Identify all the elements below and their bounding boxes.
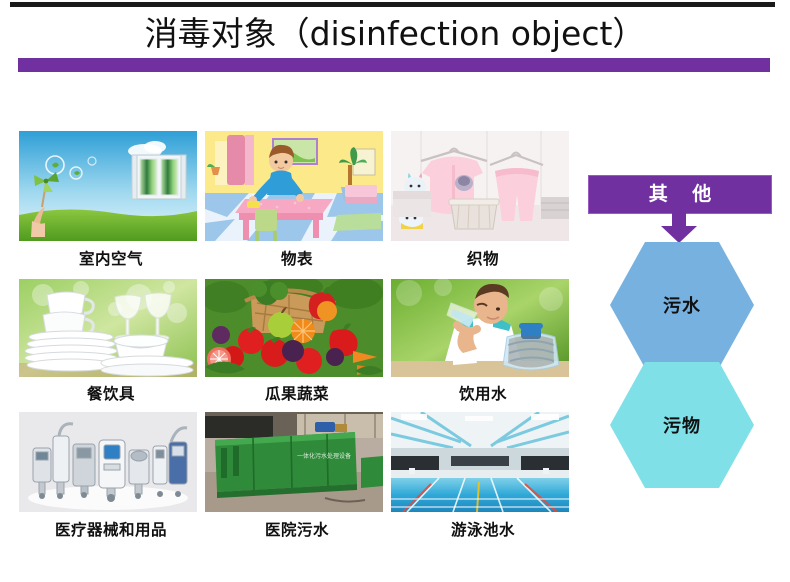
title-underline-bar — [18, 58, 770, 72]
grid-item-fruits-vegetables[interactable]: 瓜果蔬菜 — [204, 278, 390, 411]
grid-row: 室内空气 — [18, 130, 578, 278]
grid-item-hospital-sewage[interactable]: 一体化污水处理设备 医院污水 — [204, 411, 390, 540]
medical-devices-photo[interactable] — [18, 411, 198, 513]
grid-item-caption: 织物 — [390, 242, 576, 278]
disinfection-object-grid: 室内空气 — [18, 130, 578, 540]
grid-item-drinking-water[interactable]: 饮用水 — [390, 278, 576, 411]
grid-item-caption: 瓜果蔬菜 — [204, 378, 390, 411]
object-surface-photo[interactable] — [204, 130, 384, 242]
hexagon-sewage[interactable]: 污水 — [608, 240, 756, 370]
grid-item-swimming-pool[interactable]: 游泳池水 — [390, 411, 576, 540]
fabric-photo[interactable] — [390, 130, 570, 242]
grid-item-caption: 游泳池水 — [390, 513, 576, 540]
hexagon-filth-label: 污物 — [608, 360, 756, 490]
hospital-sewage-photo[interactable]: 一体化污水处理设备 — [204, 411, 384, 513]
down-arrow-icon — [660, 210, 698, 244]
hexagon-filth[interactable]: 污物 — [608, 360, 756, 490]
other-banner-label: 其 他 — [589, 176, 771, 213]
hexagon-sewage-label: 污水 — [608, 240, 756, 370]
grid-item-tableware[interactable]: 餐饮具 — [18, 278, 204, 411]
grid-row: 餐饮具 — [18, 278, 578, 411]
grid-row: 医疗器械和用品 — [18, 411, 578, 540]
page-title-area: 消毒对象（disinfection object） — [0, 7, 790, 55]
grid-item-caption: 物表 — [204, 242, 390, 278]
grid-item-medical-devices[interactable]: 医疗器械和用品 — [18, 411, 204, 540]
indoor-air-photo[interactable] — [18, 130, 198, 242]
grid-item-caption: 餐饮具 — [18, 378, 204, 411]
fruits-vegetables-photo[interactable] — [204, 278, 384, 378]
tableware-photo[interactable] — [18, 278, 198, 378]
other-banner[interactable]: 其 他 — [588, 175, 772, 214]
page-title: 消毒对象（disinfection object） — [145, 7, 646, 55]
grid-item-caption: 饮用水 — [390, 378, 576, 411]
grid-item-object-surface[interactable]: 物表 — [204, 130, 390, 278]
grid-item-fabric[interactable]: 织物 — [390, 130, 576, 278]
grid-item-indoor-air[interactable]: 室内空气 — [18, 130, 204, 278]
svg-text:一体化污水处理设备: 一体化污水处理设备 — [297, 452, 351, 460]
drinking-water-photo[interactable] — [390, 278, 570, 378]
grid-item-caption: 医院污水 — [204, 513, 390, 540]
swimming-pool-photo[interactable] — [390, 411, 570, 513]
grid-item-caption: 室内空气 — [18, 242, 204, 278]
grid-item-caption: 医疗器械和用品 — [18, 513, 204, 540]
